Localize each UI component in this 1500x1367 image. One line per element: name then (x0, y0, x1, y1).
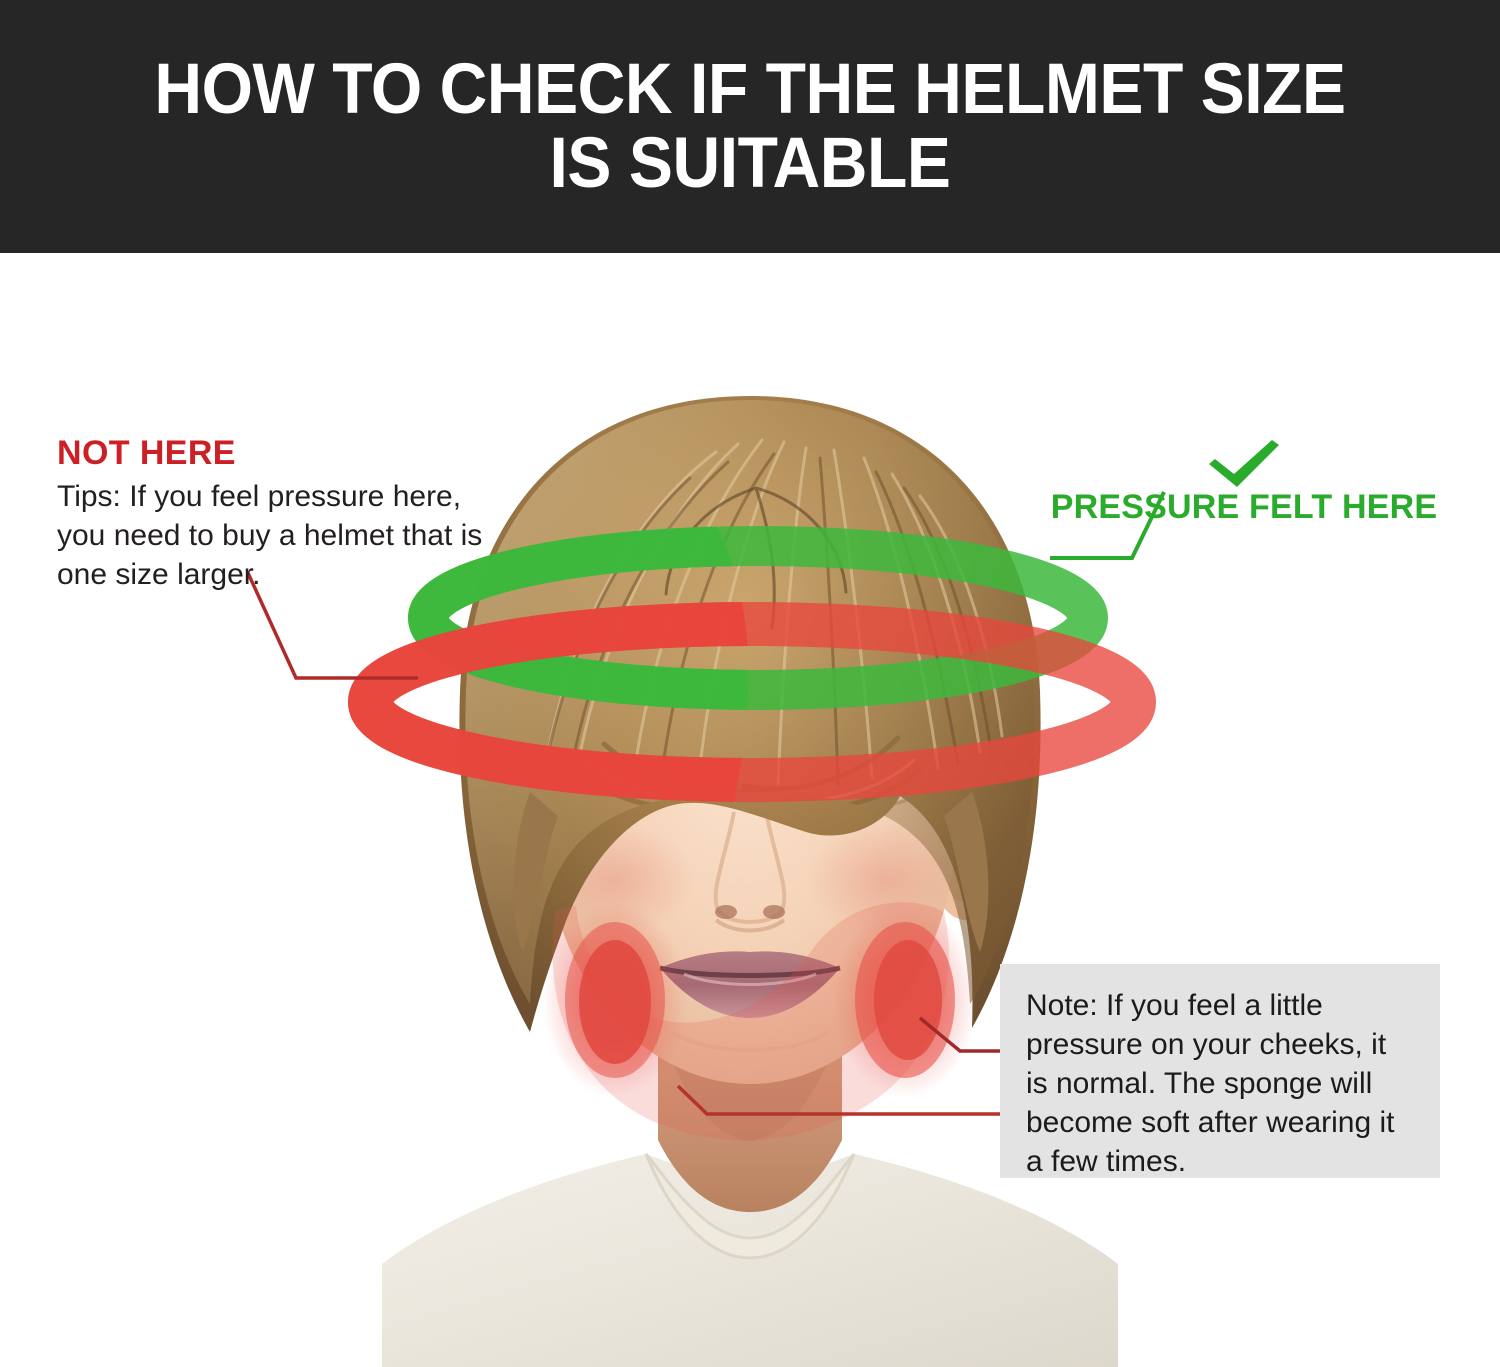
check-mark-icon (1029, 440, 1459, 488)
not-here-body: Tips: If you feel pressure here, you nee… (57, 477, 517, 594)
header-banner: HOW TO CHECK IF THE HELMET SIZE IS SUITA… (0, 0, 1500, 253)
infographic-canvas: HOW TO CHECK IF THE HELMET SIZE IS SUITA… (0, 0, 1500, 1367)
page-title: HOW TO CHECK IF THE HELMET SIZE IS SUITA… (136, 53, 1364, 199)
callout-cheek-note: Note: If you feel a little pressure on y… (1000, 964, 1440, 1178)
callout-pressure-felt-here: PRESSURE FELT HERE (1029, 440, 1459, 524)
pressure-felt-here-label: PRESSURE FELT HERE (1051, 488, 1437, 526)
not-here-heading: NOT HERE (57, 436, 517, 472)
callout-not-here: NOT HERE Tips: If you feel pressure here… (57, 436, 517, 594)
cheek-note-body: Note: If you feel a little pressure on y… (1026, 986, 1414, 1181)
